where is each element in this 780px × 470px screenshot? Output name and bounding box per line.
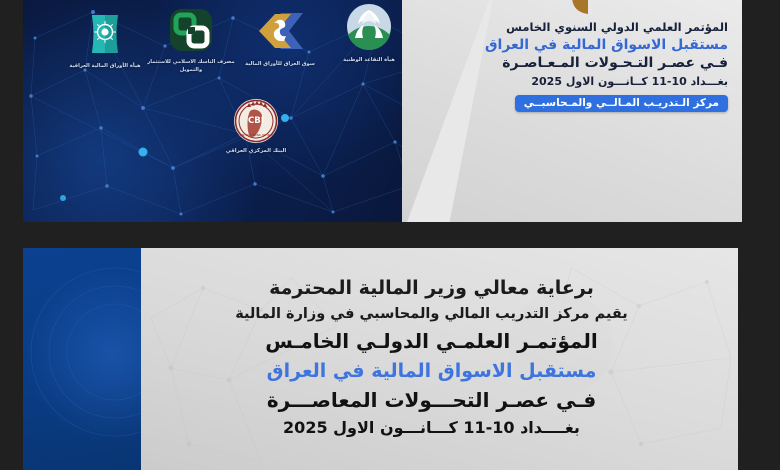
banner-text-block: المؤتمر العلمي الدولي السنوي الخامس مستق… bbox=[428, 20, 728, 112]
poster-line-4-theme: مستقبل الاسواق المالية في العراق bbox=[141, 357, 722, 386]
poster-blue-side-panel bbox=[23, 248, 141, 470]
poster-line-5-theme-cont: فـي عصـر التحـــولات المعاصـــرة bbox=[141, 385, 722, 415]
poster-text-block: برعاية معالي وزير المالية المحترمة يقيم … bbox=[141, 274, 722, 441]
al-nasik-islamic-bank-logo bbox=[143, 4, 239, 56]
banner-logo-iraqi-securities-commission: هيأة الأوراق المالية العراقية bbox=[57, 8, 153, 71]
iraqi-securities-commission-logo bbox=[57, 8, 153, 60]
poster-side-pattern-graphic bbox=[23, 248, 141, 470]
banner-line-3: فـي عصـر التـحـولات المـعـاصـرة bbox=[428, 54, 728, 74]
conference-banner-image: هيأة الأوراق المالية العراقية مصرف الناس… bbox=[23, 0, 742, 222]
banner-logo-iraq-stock-exchange: سوق العراق للأوراق المالية bbox=[232, 6, 328, 69]
banner-logo-central-bank-of-iraq: CBI CENTRAL BANK OF IRAQ البنك المركزي ا… bbox=[208, 98, 304, 155]
banner-line-4-date: بغـــداد 10-11 كــانـــون الاول 2025 bbox=[428, 74, 728, 91]
banner-logo-caption: هيأة الأوراق المالية العراقية bbox=[57, 63, 153, 71]
central-bank-of-iraq-logo: CBI CENTRAL BANK OF IRAQ bbox=[208, 98, 304, 144]
banner-logo-caption: مصرف الناسك الاسلامي للاستثمار والتمويل bbox=[143, 59, 239, 75]
cbi-monogram: CBI bbox=[248, 116, 264, 126]
banner-logo-national-pension-authority: هيأة التقاعد الوطنية bbox=[321, 2, 417, 65]
page-background: هيأة الأوراق المالية العراقية مصرف الناس… bbox=[0, 0, 780, 470]
poster-line-6-date: بغــــداد 10-11 كـــانـــون الاول 2025 bbox=[141, 415, 722, 441]
poster-line-2-organizer: يقيم مركز التدريب المالي والمحاسبي في وز… bbox=[141, 303, 722, 326]
banner-organizer-pill: مركز الـتدريـب المـالــي والمـحاسبــي bbox=[515, 95, 728, 112]
iraq-stock-exchange-logo bbox=[232, 6, 328, 58]
banner-line-2: مستقبل الاسواق المالية في العراق bbox=[428, 36, 728, 55]
poster-line-3-title: المؤتمـر العلمـي الدولـي الخامـس bbox=[141, 326, 722, 357]
conference-poster-image: برعاية معالي وزير المالية المحترمة يقيم … bbox=[23, 248, 738, 470]
banner-logo-caption: هيأة التقاعد الوطنية bbox=[321, 57, 417, 65]
banner-logo-caption: سوق العراق للأوراق المالية bbox=[232, 61, 328, 69]
svg-text:CENTRAL BANK OF IRAQ: CENTRAL BANK OF IRAQ bbox=[238, 133, 275, 137]
poster-body-panel: برعاية معالي وزير المالية المحترمة يقيم … bbox=[141, 248, 738, 470]
national-pension-authority-logo bbox=[321, 2, 417, 54]
banner-logo-caption: البنك المركزي العراقي bbox=[208, 147, 304, 155]
poster-line-1-patronage: برعاية معالي وزير المالية المحترمة bbox=[141, 274, 722, 303]
banner-line-1: المؤتمر العلمي الدولي السنوي الخامس bbox=[428, 20, 728, 36]
banner-logo-al-nasik-islamic-bank: مصرف الناسك الاسلامي للاستثمار والتمويل bbox=[143, 4, 239, 75]
